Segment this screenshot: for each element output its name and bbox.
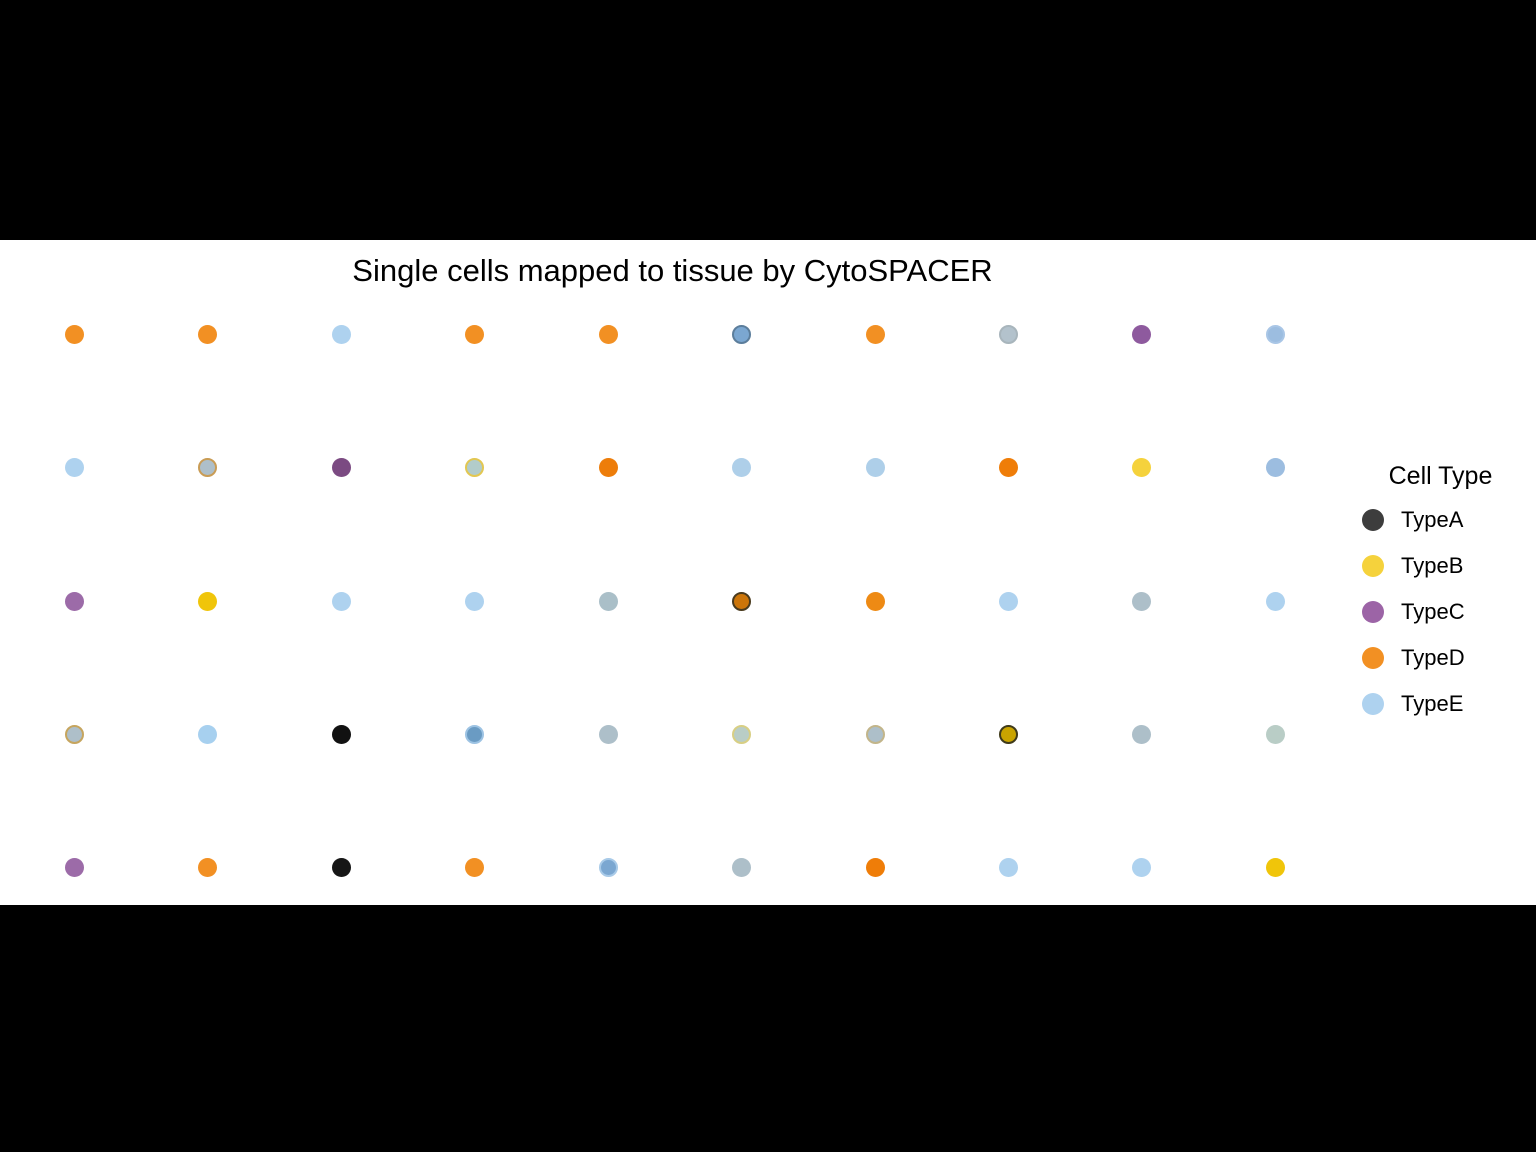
cell-point [332,858,351,877]
cell-point [65,858,84,877]
legend-item-label: TypeD [1401,645,1465,671]
legend-color-dot-icon [1362,693,1384,715]
legend-item-label: TypeB [1401,553,1463,579]
cell-point [599,592,618,611]
cell-point [465,458,484,477]
cell-point [732,592,751,611]
legend-item-typeb[interactable]: TypeB [1345,543,1536,589]
legend-item-label: TypeA [1401,507,1463,533]
cell-point [465,725,484,744]
cell-point [866,858,885,877]
cell-point [866,725,885,744]
cell-point [1132,325,1151,344]
cell-point [1132,592,1151,611]
cell-point [65,458,84,477]
cell-point [599,858,618,877]
legend-item-label: TypeC [1401,599,1465,625]
cell-point [198,858,217,877]
cell-point [65,325,84,344]
figure-root: Single cells mapped to tissue by CytoSPA… [0,0,1536,1152]
legend-color-dot-icon [1362,601,1384,623]
legend-color-dot-icon [1362,647,1384,669]
cell-point [866,458,885,477]
cell-point [732,858,751,877]
legend-swatch-wrapper [1345,693,1401,715]
legend-swatch-wrapper [1345,647,1401,669]
cell-point [465,325,484,344]
cell-point [332,725,351,744]
plot-panel: Single cells mapped to tissue by CytoSPA… [0,240,1536,905]
legend-item-typee[interactable]: TypeE [1345,681,1536,727]
legend-item-typec[interactable]: TypeC [1345,589,1536,635]
cell-point [198,725,217,744]
cell-point [732,458,751,477]
cell-point [332,325,351,344]
legend: Cell Type TypeATypeBTypeCTypeDTypeE [1345,240,1536,905]
cell-point [465,858,484,877]
cell-point [999,725,1018,744]
cell-point [198,325,217,344]
legend-item-typea[interactable]: TypeA [1345,497,1536,543]
legend-swatch-wrapper [1345,601,1401,623]
legend-item-label: TypeE [1401,691,1463,717]
cell-point [465,592,484,611]
cell-point [198,458,217,477]
legend-title: Cell Type [1345,462,1536,491]
legend-item-typed[interactable]: TypeD [1345,635,1536,681]
scatter-plot-area [0,240,1345,905]
cell-point [999,458,1018,477]
cell-point [999,858,1018,877]
cell-point [65,725,84,744]
cell-point [599,725,618,744]
legend-swatch-wrapper [1345,555,1401,577]
cell-point [999,325,1018,344]
cell-point [1266,858,1285,877]
cell-point [1132,458,1151,477]
legend-swatch-wrapper [1345,509,1401,531]
cell-point [65,592,84,611]
cell-point [866,325,885,344]
cell-point [732,725,751,744]
cell-point [1266,592,1285,611]
cell-point [1266,725,1285,744]
cell-point [332,592,351,611]
cell-point [332,458,351,477]
cell-point [1266,325,1285,344]
cell-point [732,325,751,344]
legend-color-dot-icon [1362,555,1384,577]
cell-point [599,325,618,344]
cell-point [599,458,618,477]
cell-point [999,592,1018,611]
cell-point [1132,725,1151,744]
cell-point [1266,458,1285,477]
legend-color-dot-icon [1362,509,1384,531]
cell-point [1132,858,1151,877]
cell-point [866,592,885,611]
cell-point [198,592,217,611]
